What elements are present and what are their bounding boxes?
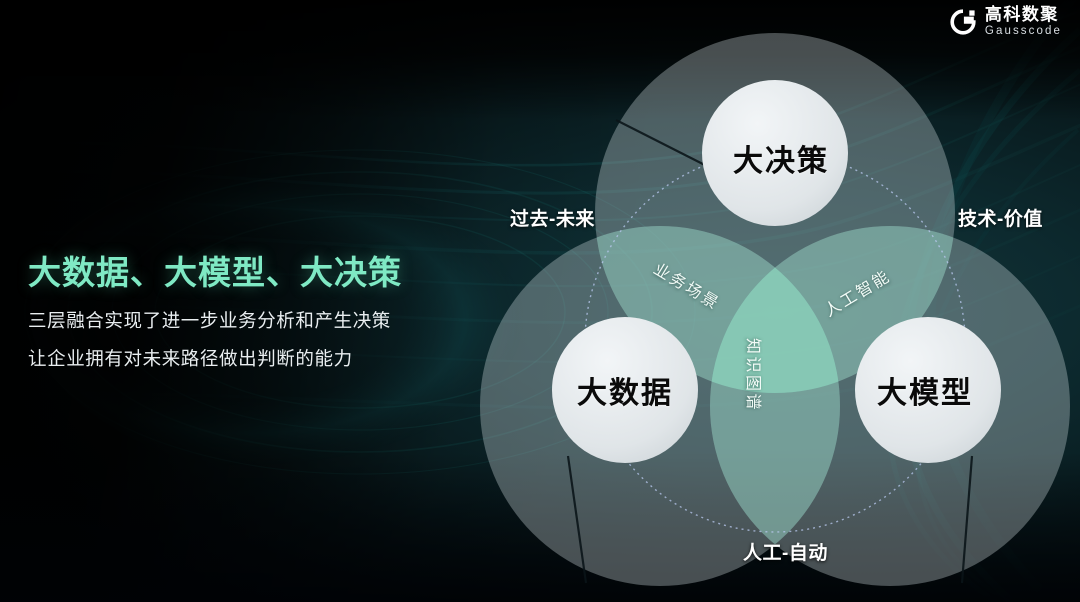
axis-label-manual-auto: 人工-自动 [743,538,828,565]
subtitle-line-1: 三层融合实现了进一步业务分析和产生决策 [28,309,468,333]
page-title: 大数据、大模型、大决策 [28,252,468,293]
axis-label-past-future: 过去-未来 [510,204,595,231]
venn-label-knowledge-graph: 知识图谱 [743,338,767,412]
venn-label-large-model: 大模型 [877,368,973,412]
axis-label-tech-value: 技术-价值 [958,204,1043,231]
venn-label-big-data: 大数据 [577,368,673,412]
copy-block: 大数据、大模型、大决策 三层融合实现了进一步业务分析和产生决策 让企业拥有对未来… [28,252,468,385]
slide-canvas: 高科数聚 Gausscode 大数据、大模型、大决策 三层融合实现了进一步业务分… [0,0,1080,602]
venn-diagram: 过去-未来 技术-价值 人工-自动 大决策 大数据 大模型 业务场景 人工智能 … [470,8,1080,602]
venn-label-big-decision: 大决策 [733,136,829,180]
subtitle-line-2: 让企业拥有对未来路径做出判断的能力 [28,347,468,371]
